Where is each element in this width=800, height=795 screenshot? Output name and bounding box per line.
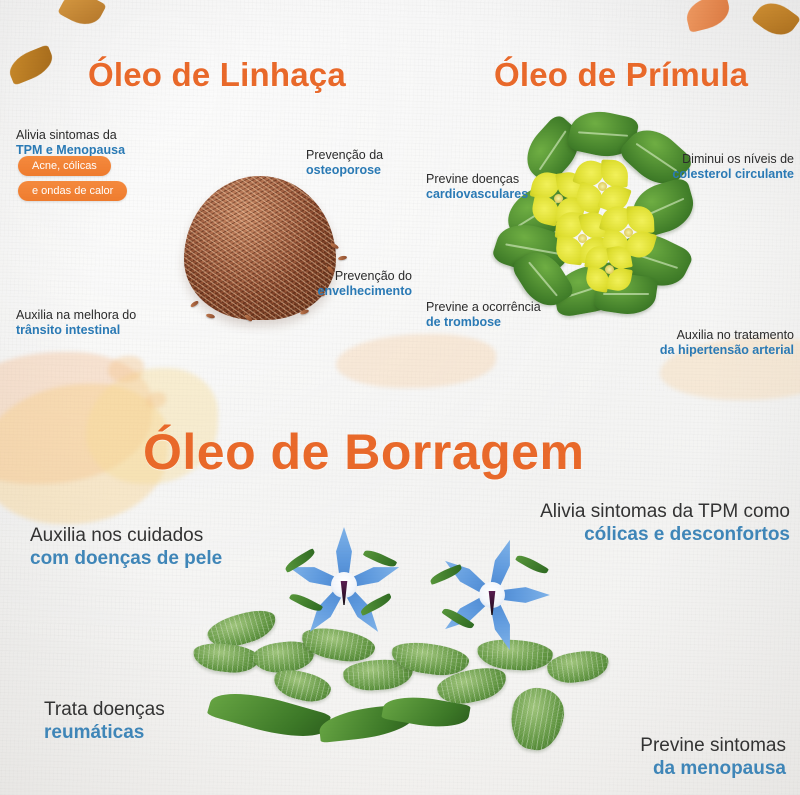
callout-line-2: cardiovasculares — [426, 187, 528, 202]
callout-primula-colesterol: Diminui os níveis de colesterol circulan… — [672, 152, 794, 183]
callout-line-1: Trata doenças — [44, 698, 165, 721]
section-title-borragem: Óleo de Borragem — [143, 423, 584, 481]
callout-line-1: Alivia sintomas da TPM como — [540, 500, 790, 523]
callout-line-2: da hipertensão arterial — [660, 343, 794, 358]
dried-leaf-1-icon — [5, 44, 57, 85]
callout-line-2: de trombose — [426, 315, 541, 330]
callout-line-2: envelhecimento — [318, 284, 412, 299]
callout-line-1: Auxilia na melhora do — [16, 308, 136, 323]
callout-line-2: da menopausa — [640, 757, 786, 780]
callout-line-1: Auxilia no tratamento — [660, 328, 794, 343]
infographic-page: Óleo de Linhaça Alivia sintomas da TPM e… — [0, 0, 800, 795]
callout-line-1: Prevenção da — [306, 148, 383, 163]
callout-line-1: Previne doenças — [426, 172, 528, 187]
callout-primula-hipertensao: Auxilia no tratamento da hipertensão art… — [660, 328, 794, 359]
pill-group-linhaca: Acne, cólicas e ondas de calor — [18, 156, 127, 201]
callout-borragem-tpm: Alivia sintomas da TPM como cólicas e de… — [540, 500, 790, 546]
callout-line-2: osteoporose — [306, 163, 383, 178]
petal-wash-6 — [336, 334, 496, 388]
dried-leaf-3-icon — [683, 0, 733, 33]
callout-line-2: colesterol circulante — [672, 167, 794, 182]
callout-line-2: com doenças de pele — [30, 547, 222, 570]
pill-acne-colicas: Acne, cólicas — [18, 156, 111, 176]
callout-primula-trombose: Previne a ocorrência de trombose — [426, 300, 541, 331]
callout-line-1: Previne a ocorrência — [426, 300, 541, 315]
callout-linhaca-tpm: Alivia sintomas da TPM e Menopausa — [16, 128, 125, 159]
dried-leaf-2-icon — [57, 0, 106, 32]
callout-primula-cardiovasculares: Previne doenças cardiovasculares — [426, 172, 528, 203]
callout-line-1: Alivia sintomas da — [16, 128, 125, 143]
dried-leaf-4-icon — [751, 0, 800, 43]
callout-borragem-pele: Auxilia nos cuidados com doenças de pele — [30, 524, 222, 570]
section-title-primula: Óleo de Prímula — [494, 56, 748, 94]
callout-line-2: cólicas e desconfortos — [540, 523, 790, 546]
primrose-flower-photo — [500, 118, 690, 328]
borage-flower-photo — [215, 548, 615, 763]
callout-borragem-menopausa: Previne sintomas da menopausa — [640, 734, 786, 780]
callout-line-1: Previne sintomas — [640, 734, 786, 757]
callout-line-1: Diminui os níveis de — [672, 152, 794, 167]
callout-line-2: trânsito intestinal — [16, 323, 136, 338]
section-title-linhaca: Óleo de Linhaça — [88, 56, 346, 94]
callout-line-2: reumáticas — [44, 721, 165, 744]
callout-line-1: Prevenção do — [318, 269, 412, 284]
pill-ondas-de-calor: e ondas de calor — [18, 181, 127, 201]
callout-linhaca-transito: Auxilia na melhora do trânsito intestina… — [16, 308, 136, 339]
callout-line-1: Auxilia nos cuidados — [30, 524, 222, 547]
callout-linhaca-envelhecimento: Prevenção do envelhecimento — [318, 269, 412, 300]
callout-linhaca-osteoporose: Prevenção da osteoporose — [306, 148, 383, 179]
callout-borragem-reumaticas: Trata doenças reumáticas — [44, 698, 165, 744]
